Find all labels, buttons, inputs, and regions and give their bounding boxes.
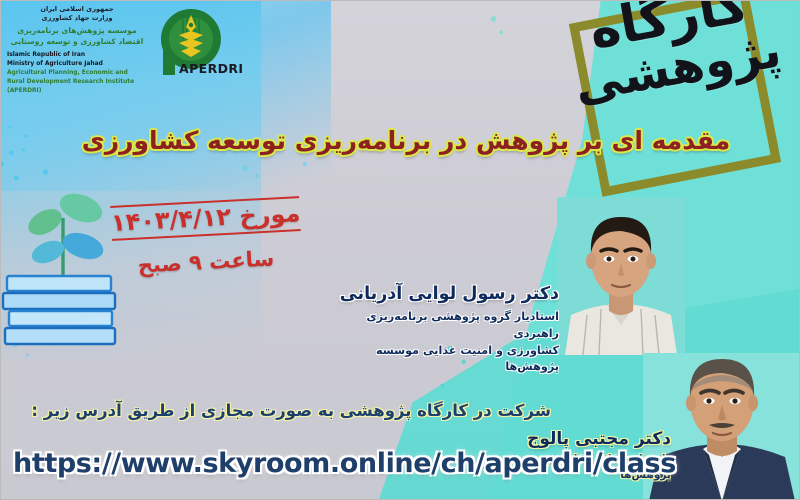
org-ministry-en: Ministry of Agriculture Jahad xyxy=(7,60,147,69)
org-institute-en-line2: Rural Development Research Institute xyxy=(7,78,147,87)
org-ministry-fa: وزارت جهاد کشاورزی xyxy=(7,14,147,22)
aperdri-logo-label: APERDRI xyxy=(179,61,243,76)
event-date: مورخ ۱۴۰۳/۴/۱۲ xyxy=(110,196,301,241)
speaker-1-role: استادیار گروه پژوهشی برنامه‌ریزی راهبردی… xyxy=(331,309,559,376)
speaker-1-name: دکتر رسول لوایی آدریانی xyxy=(331,284,559,305)
schedule-block: مورخ ۱۴۰۳/۴/۱۲ ساعت ۹ صبح xyxy=(111,201,301,274)
org-persian-top: جمهوری اسلامی ایران وزارت جهاد کشاورزی xyxy=(7,5,147,22)
organization-header: جمهوری اسلامی ایران وزارت جهاد کشاورزی م… xyxy=(7,5,147,96)
aperdri-logo: APERDRI xyxy=(139,5,243,83)
speaker-2-name: دکتر مجتبی پالوج xyxy=(471,429,671,449)
event-time: ساعت ۹ صبح xyxy=(111,245,302,279)
org-institute-fa: موسسه پژوهش‌های برنامه‌ریزی اقتصاد کشاور… xyxy=(7,25,147,47)
org-country-en: Islamic Republic of Iran xyxy=(7,51,147,60)
org-institute-en-line1: Agricultural Planning, Economic and xyxy=(7,69,147,78)
speaker-1-info: دکتر رسول لوایی آدریانی استادیار گروه پژ… xyxy=(331,284,559,376)
workshop-poster: جمهوری اسلامی ایران وزارت جهاد کشاورزی م… xyxy=(0,0,800,500)
speaker-1-role-line1: استادیار گروه پژوهشی برنامه‌ریزی راهبردی xyxy=(331,309,559,343)
participation-instruction: شرکت در کارگاه پژوهشی به صورت مجازی از ط… xyxy=(31,401,551,420)
speaker-1-photo xyxy=(557,197,685,355)
org-acronym-en: (APERDRI) xyxy=(7,87,147,96)
poster-subtitle: مقدمه ای بر پژوهش در برنامه‌ریزی توسعه ک… xyxy=(61,127,751,155)
meeting-url[interactable]: https://www.skyroom.online/ch/aperdri/cl… xyxy=(13,448,533,479)
org-english-block: Islamic Republic of Iran Ministry of Agr… xyxy=(7,51,147,95)
org-institute-fa-line2: اقتصاد کشاورزی و توسعه روستایی xyxy=(7,36,147,47)
books-with-sprout-icon xyxy=(1,156,126,356)
org-country-fa: جمهوری اسلامی ایران xyxy=(7,5,147,13)
org-institute-fa-line1: موسسه پژوهش‌های برنامه‌ریزی xyxy=(7,25,147,36)
speaker-1-role-line2: کشاورزی و امنیت غذایی موسسه پژوهش‌ها xyxy=(331,343,559,377)
